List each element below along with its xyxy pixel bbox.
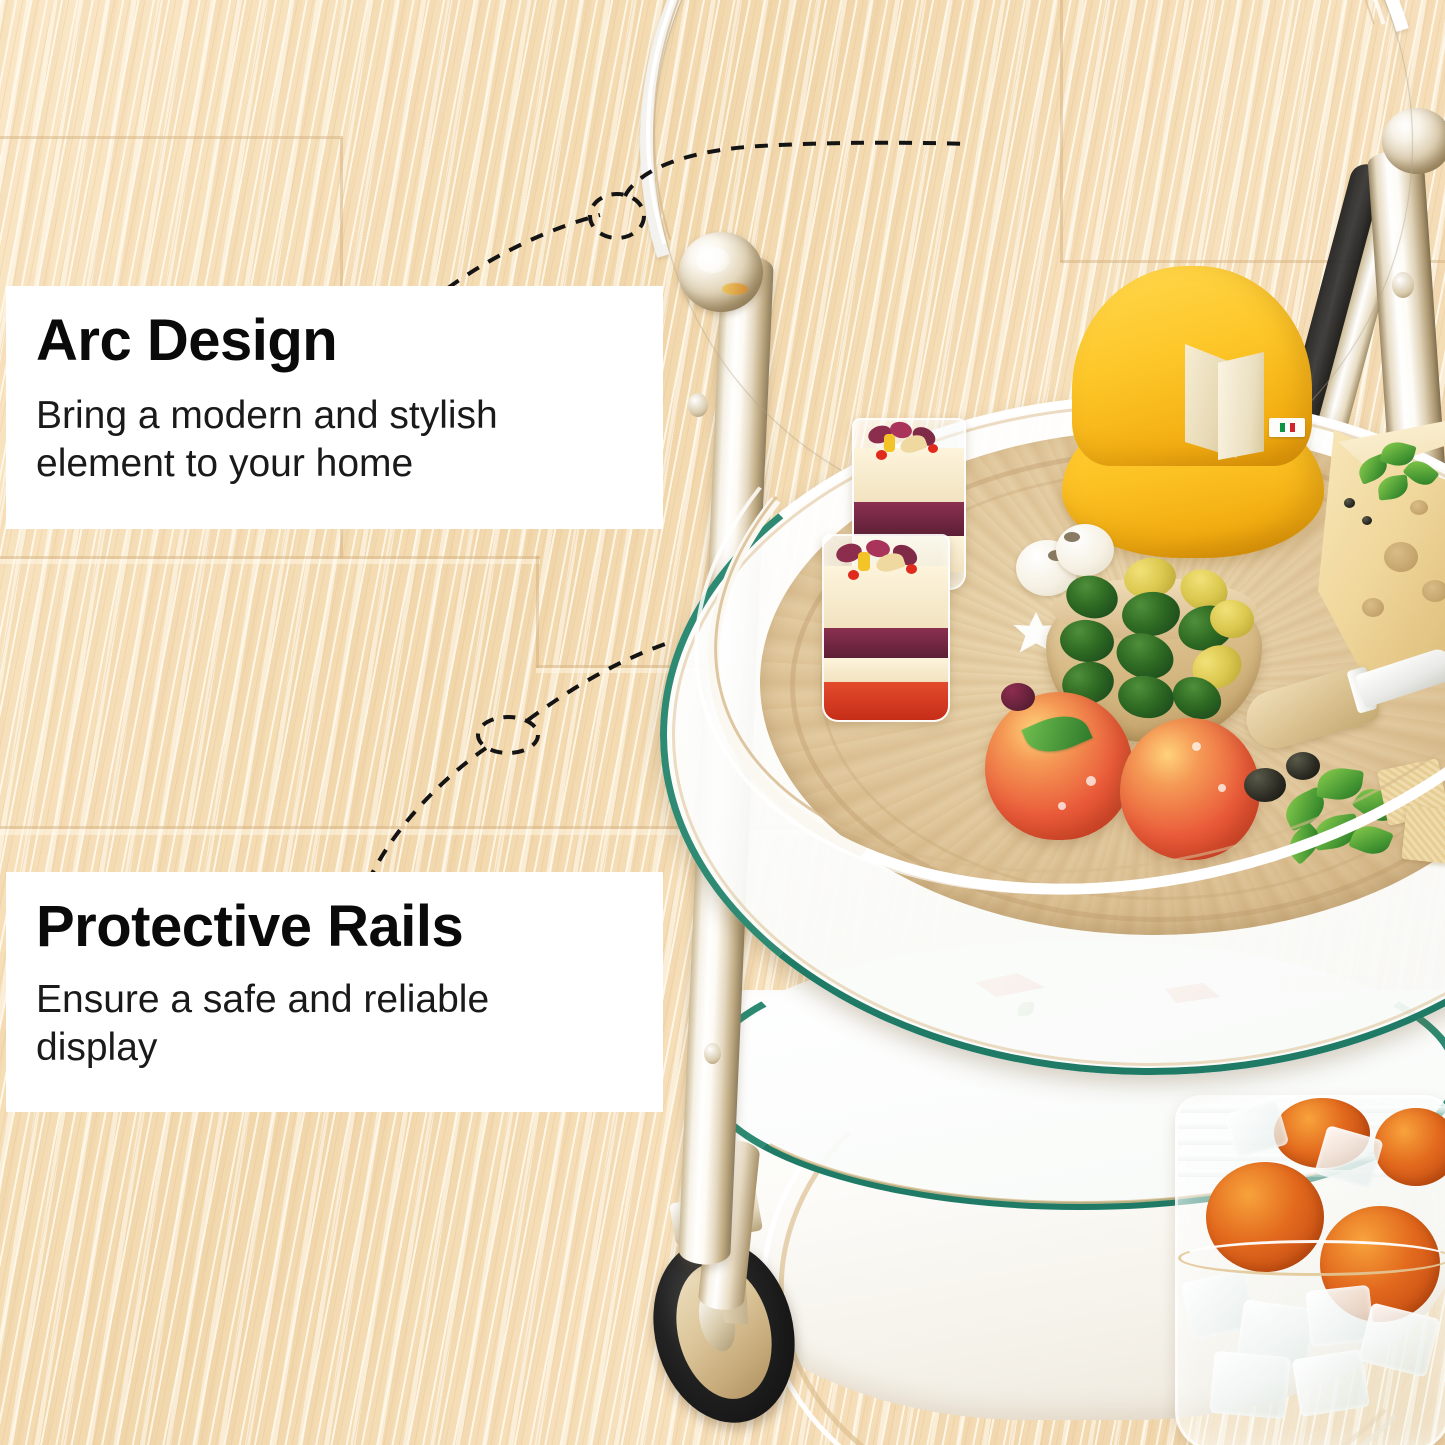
callout-rails-subtitle-line1: Ensure a safe and reliable [36,976,633,1024]
callout-arc-design: Arc Design Bring a modern and stylish el… [6,286,663,529]
post-screw [704,1043,721,1064]
bucket-rim-rail [1178,1240,1445,1276]
callout-rails-subtitle-line2: display [36,1024,633,1072]
callout-protective-rails: Protective Rails Ensure a safe and relia… [6,872,663,1112]
ice-cube [1358,1302,1440,1377]
ice-cube [1209,1351,1290,1419]
callout-arc-subtitle: Bring a modern and stylish element to yo… [36,392,633,487]
callout-arc-subtitle-line1: Bring a modern and stylish [36,392,633,440]
callout-rails-subtitle: Ensure a safe and reliable display [36,976,633,1071]
callout-arc-subtitle-line2: element to your home [36,440,633,488]
callout-arc-title: Arc Design [36,312,633,370]
ice-cube [1292,1349,1370,1417]
bar-cart-product [0,0,1445,1445]
post-screw [688,393,708,417]
callout-rails-title: Protective Rails [36,898,633,956]
cracker [1401,805,1445,865]
product-feature-image: Arc Design Bring a modern and stylish el… [0,0,1445,1445]
ice-cube [1314,1125,1384,1189]
